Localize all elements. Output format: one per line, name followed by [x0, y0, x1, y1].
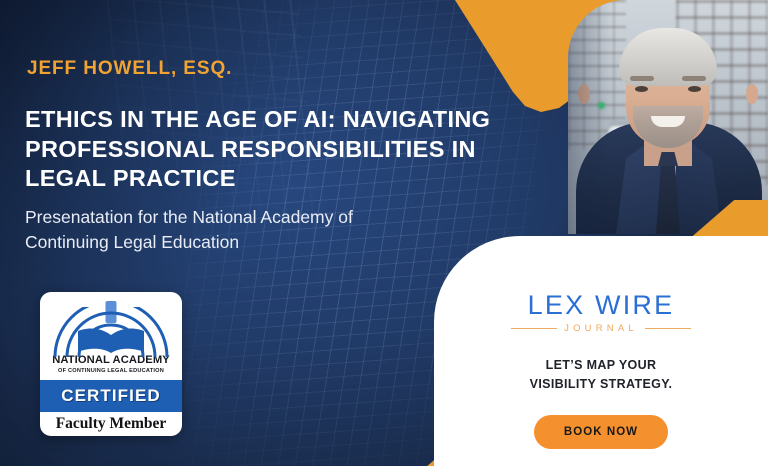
logo-subtitle: JOURNAL: [564, 323, 638, 334]
subtitle-line-2: Continuing Legal Education: [25, 230, 505, 255]
cta-tagline-line-2: VISIBILITY STRATEGY.: [530, 375, 673, 394]
logo-wordmark: LEX WIRE: [511, 292, 691, 319]
radiating-arcs-icon: [45, 307, 177, 357]
status-badge: CERTIFIED: [61, 386, 161, 405]
ear-right: [746, 84, 758, 104]
speaker-name: JEFF HOWELL, ESQ.: [27, 58, 232, 80]
eyebrow-right: [682, 76, 706, 81]
badge-subtitle: OF CONTINUING LEGAL EDUCATION: [58, 369, 164, 375]
cta-tagline-line-1: LET’S MAP YOUR: [530, 356, 673, 375]
badge-status-banner: CERTIFIED: [40, 380, 182, 412]
cta-card-content: LEX WIRE JOURNAL LET’S MAP YOUR VISIBILI…: [434, 236, 768, 466]
cta-tagline: LET’S MAP YOUR VISIBILITY STRATEGY.: [530, 356, 673, 395]
logo-subtitle-row: JOURNAL: [511, 323, 691, 334]
book-now-button[interactable]: BOOK NOW: [534, 415, 668, 449]
badge-role: Faculty Member: [56, 415, 167, 433]
certification-badge: NATIONAL ACADEMY OF CONTINUING LEGAL EDU…: [40, 292, 182, 436]
badge-role-area: Faculty Member: [56, 412, 167, 436]
eye-left: [635, 86, 648, 92]
page-title: ETHICS IN THE AGE OF AI: NAVIGATING PROF…: [25, 105, 530, 194]
presentation-slide: JEFF HOWELL, ESQ. ETHICS IN THE AGE OF A…: [0, 0, 768, 466]
speaker-portrait: [568, 0, 768, 234]
eye-right: [688, 86, 701, 92]
eyebrow-left: [630, 76, 654, 81]
lex-wire-logo: LEX WIRE JOURNAL: [511, 292, 691, 334]
subtitle-line-1: Presenatation for the National Academy o…: [25, 205, 505, 230]
subtitle: Presenatation for the National Academy o…: [25, 205, 505, 255]
open-book-emblem-icon: [40, 297, 182, 355]
logo-rule-right: [645, 328, 691, 330]
logo-rule-left: [511, 328, 557, 330]
traffic-light-green: [598, 102, 605, 109]
ear-left: [578, 84, 590, 104]
